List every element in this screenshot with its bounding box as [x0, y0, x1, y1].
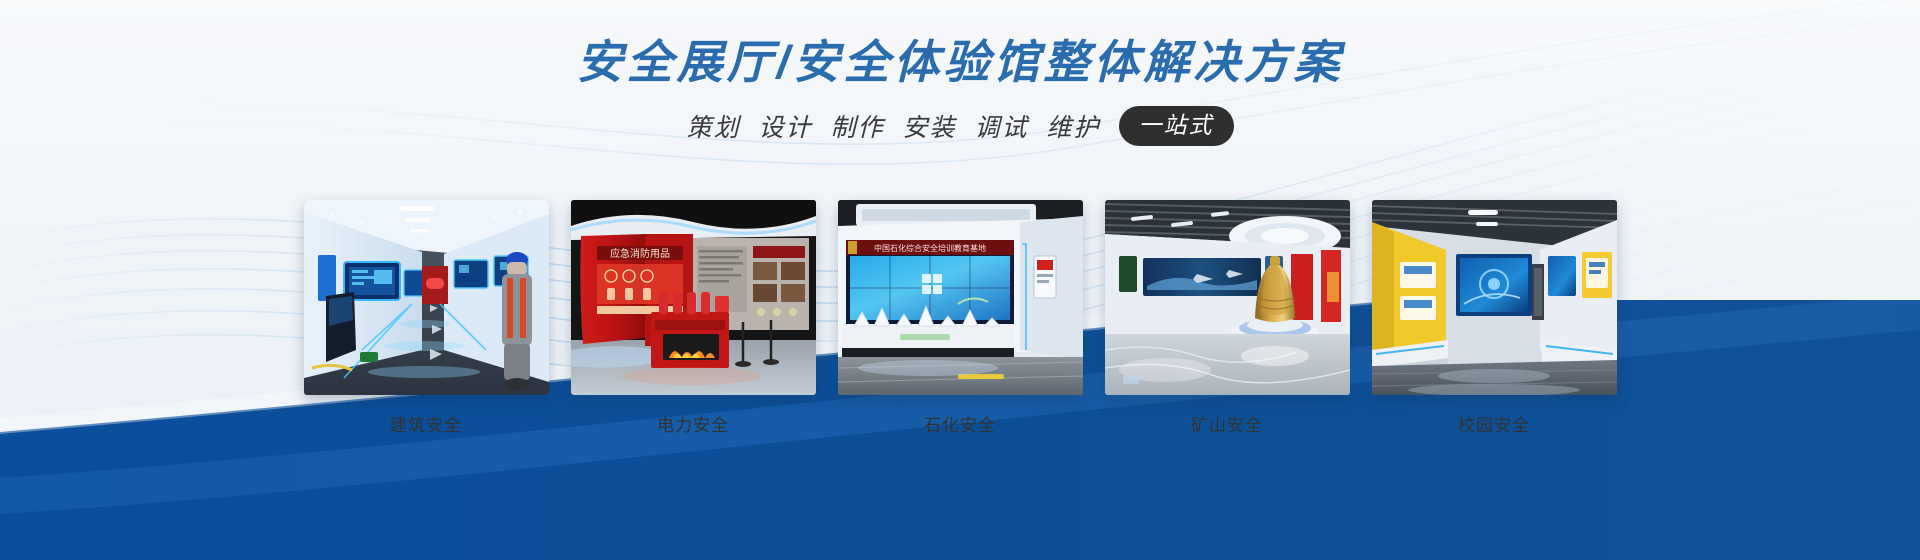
case-card-construction[interactable]: 建筑安全 — [304, 200, 549, 436]
one-stop-badge: 一站式 — [1119, 106, 1234, 146]
service-step-3: 制作 — [830, 108, 884, 144]
case-card-petrochemical[interactable]: 中国石化综合安全培训教育基地 — [838, 200, 1083, 436]
case-caption-construction: 建筑安全 — [390, 411, 462, 436]
case-image-petrochemical[interactable]: 中国石化综合安全培训教育基地 — [838, 200, 1083, 395]
service-step-1: 策划 — [686, 108, 740, 144]
case-image-mining[interactable] — [1105, 200, 1350, 395]
blue-corridor-exhibition-hall-illustration — [304, 200, 549, 395]
case-image-power[interactable]: 应急消防用品 — [571, 200, 816, 395]
case-caption-power: 电力安全 — [657, 411, 729, 436]
service-step-6: 维护 — [1047, 108, 1101, 144]
case-thumbnail-row: 建筑安全 — [0, 200, 1920, 436]
case-card-mining[interactable]: 矿山安全 — [1105, 200, 1350, 436]
case-caption-mining: 矿山安全 — [1191, 411, 1263, 436]
service-steps-row: 策划 设计 制作 安装 调试 维护 一站式 — [0, 106, 1920, 146]
promo-banner: 安全展厅/安全体验馆整体解决方案 策划 设计 制作 安装 调试 维护 一站式 — [0, 0, 1920, 560]
service-step-2: 设计 — [758, 108, 812, 144]
case-card-campus[interactable]: 校园安全 — [1372, 200, 1617, 436]
case-image-campus[interactable] — [1372, 200, 1617, 395]
service-step-4: 安装 — [903, 108, 957, 144]
svg-text:中国石化综合安全培训教育基地: 中国石化综合安全培训教育基地 — [874, 243, 986, 253]
service-step-5: 调试 — [975, 108, 1029, 144]
red-fire-equipment-hall-illustration: 应急消防用品 — [571, 200, 816, 395]
svg-text:应急消防用品: 应急消防用品 — [610, 247, 670, 260]
case-card-power[interactable]: 应急消防用品 — [571, 200, 816, 436]
yellow-blue-campus-corridor-illustration — [1372, 200, 1617, 395]
page-title: 安全展厅/安全体验馆整体解决方案 — [0, 0, 1920, 92]
led-video-wall-hall-illustration: 中国石化综合安全培训教育基地 — [838, 200, 1083, 395]
golden-bell-atrium-hall-illustration — [1105, 200, 1350, 395]
case-image-construction[interactable] — [304, 200, 549, 395]
case-caption-petrochemical: 石化安全 — [924, 411, 996, 436]
headline-block: 安全展厅/安全体验馆整体解决方案 策划 设计 制作 安装 调试 维护 一站式 — [0, 0, 1920, 146]
case-caption-campus: 校园安全 — [1458, 411, 1530, 436]
